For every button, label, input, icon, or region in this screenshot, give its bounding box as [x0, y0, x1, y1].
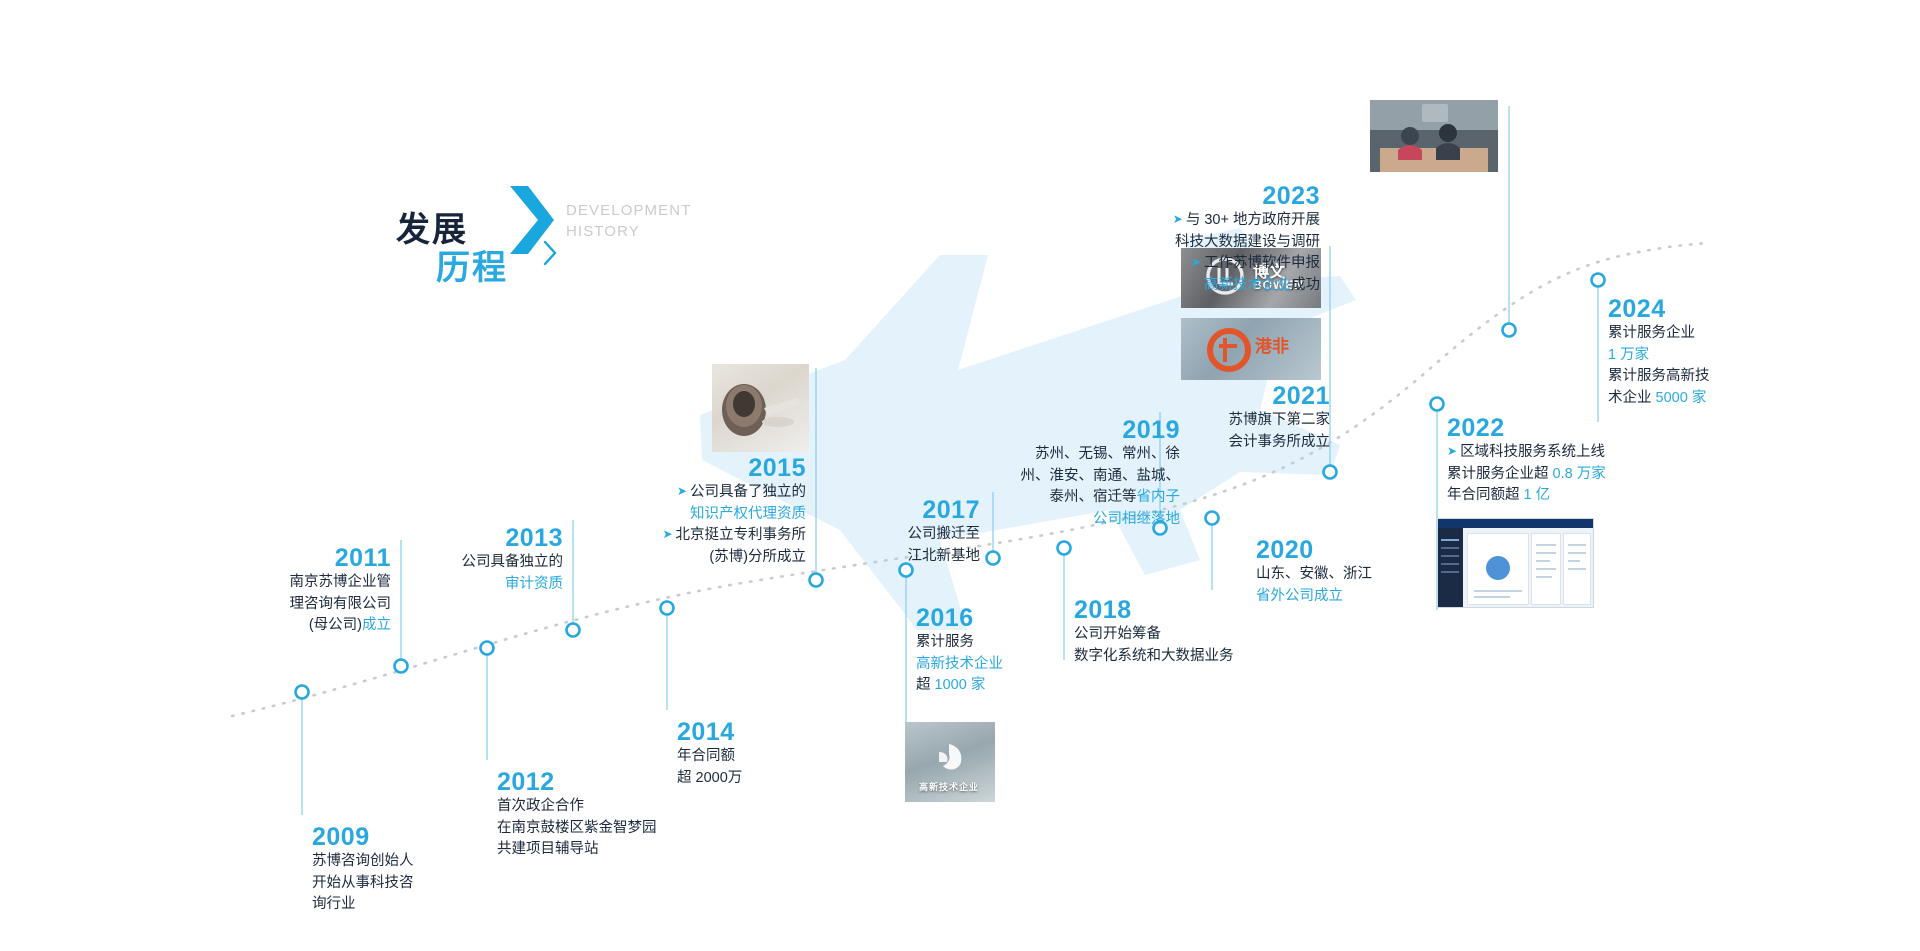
desc-line: 科技大数据建设与调研 [1090, 232, 1320, 254]
desc-text: 泰州、宿迁等 [1050, 489, 1137, 505]
year-label-2016: 2016 [916, 605, 1003, 632]
desc-line: 公司开始筹备 [1074, 624, 1234, 646]
desc-line: 苏州、无锡、常州、徐 [1000, 444, 1180, 466]
year-label-2012: 2012 [497, 769, 657, 796]
desc-text: 累计服务企业 [1608, 325, 1695, 341]
photo-2023-government-meeting [1370, 100, 1498, 172]
desc-text: 开始从事科技咨 [312, 875, 414, 891]
dashboard-card [1563, 533, 1591, 605]
desc-line: 首次政企合作 [497, 796, 657, 818]
photo-2016-caption: 高新技术企业 [919, 780, 979, 793]
timeline-entry-2024: 2024 累计服务企业1 万家累计服务高新技术企业 5000 家 [1608, 296, 1710, 409]
dashboard-sidebar-item [1441, 539, 1459, 541]
desc-highlight: 审计资质 [505, 576, 563, 592]
desc-line: 询行业 [312, 894, 414, 916]
desc-line: 超 2000万 [677, 768, 742, 790]
dashboard-line [1568, 552, 1586, 554]
desc-2013: 公司具备独立的审计资质 [343, 552, 563, 595]
desc-line: 累计服务 [916, 632, 1003, 654]
desc-line: 累计服务企业 [1608, 323, 1710, 345]
desc-text: 年合同额 [677, 748, 735, 764]
desc-2020: 山东、安徽、浙江省外公司成立 [1256, 564, 1372, 607]
desc-text: 年合同额超 [1447, 487, 1524, 503]
dashboard-sidebar-item [1441, 547, 1459, 549]
year-label-2019: 2019 [1000, 417, 1180, 444]
desc-highlight: 高新技术企业 [916, 656, 1003, 672]
desc-line: 苏博旗下第二家 [1155, 410, 1330, 432]
desc-text: 山东、安徽、浙江 [1256, 566, 1372, 582]
desc-line: ➤北京挺立专利事务所 [556, 525, 806, 547]
year-label-2018: 2018 [1074, 597, 1234, 624]
desc-line: 州、淮安、南通、盐城、 [1000, 466, 1180, 488]
desc-text: 公司开始筹备 [1074, 626, 1161, 642]
desc-text: (母公司) [309, 617, 362, 633]
timeline-nodes [0, 0, 1920, 951]
desc-highlight: 1000 家 [935, 677, 986, 693]
desc-line: ➤公司具备了独立的 [556, 482, 806, 504]
timeline-entry-2014: 2014 年合同额超 2000万 [677, 719, 742, 789]
desc-2023: ➤与 30+ 地方政府开展科技大数据建设与调研➤工作苏博软件申报高新技术企业成功 [1090, 210, 1320, 296]
desc-line: ➤工作苏博软件申报 [1090, 253, 1320, 275]
desc-line: 知识产权代理资质 [556, 504, 806, 526]
desc-text: 区域科技服务系统上线 [1460, 444, 1605, 460]
bullet-arrow-icon: ➤ [1173, 209, 1183, 231]
year-label-2009: 2009 [312, 824, 414, 851]
desc-line: 年合同额 [677, 746, 742, 768]
dashboard-line [1568, 544, 1586, 546]
dashboard-line [1536, 544, 1556, 546]
photo-2015-patent-seal [712, 364, 809, 452]
desc-text: 累计服务高新技 [1608, 368, 1710, 384]
desc-highlight: 1 万家 [1608, 347, 1649, 363]
desc-highlight: 0.8 万家 [1553, 466, 1606, 482]
desc-text: 数字化系统和大数据业务 [1074, 648, 1234, 664]
desc-2017: 公司搬迁至江北新基地 [783, 524, 980, 567]
desc-highlight: 1 亿 [1524, 487, 1551, 503]
desc-line: 苏博咨询创始人 [312, 851, 414, 873]
desc-text: 苏博旗下第二家 [1229, 412, 1331, 428]
timeline-entry-2012: 2012 首次政企合作在南京鼓楼区紫金智梦园共建项目辅导站 [497, 769, 657, 861]
dashboard-line [1536, 576, 1552, 578]
desc-2021: 苏博旗下第二家会计事务所成立 [1155, 410, 1330, 453]
desc-text: 江北新基地 [908, 548, 981, 564]
dashboard-line [1536, 552, 1556, 554]
desc-line: 理咨询有限公司 [171, 594, 391, 616]
desc-line: 累计服务高新技 [1608, 366, 1710, 388]
timeline-entry-2009: 2009 苏博咨询创始人开始从事科技咨询行业 [312, 824, 414, 916]
photo-2021-second-firm-logo: 港非 [1181, 318, 1321, 380]
desc-text: 州、淮安、南通、盐城、 [1021, 468, 1181, 484]
timeline-entry-2022: 2022 ➤区域科技服务系统上线累计服务企业超 0.8 万家年合同额超 1 亿 [1447, 415, 1606, 507]
desc-highlight: 公司相继落地 [1093, 511, 1180, 527]
desc-text: 成功 [1291, 277, 1320, 293]
desc-line: 公司搬迁至 [783, 524, 980, 546]
desc-text: 累计服务 [916, 634, 974, 650]
desc-line: 公司相继落地 [1000, 509, 1180, 531]
year-label-2015: 2015 [556, 455, 806, 482]
desc-text: 询行业 [312, 896, 356, 912]
year-label-2017: 2017 [783, 497, 980, 524]
desc-2018: 公司开始筹备数字化系统和大数据业务 [1074, 624, 1234, 667]
dashboard-line [1568, 560, 1580, 562]
desc-line: 公司具备独立的 [343, 552, 563, 574]
desc-2009: 苏博咨询创始人开始从事科技咨询行业 [312, 851, 414, 916]
desc-line: 高新技术企业成功 [1090, 275, 1320, 297]
timeline-entry-2017: 2017 公司搬迁至江北新基地 [783, 497, 980, 567]
infographic-canvas: 发展 历程 DEVELOPMENT HISTORY [0, 0, 1920, 951]
desc-line: 山东、安徽、浙江 [1256, 564, 1372, 586]
desc-line: 泰州、宿迁等省内子 [1000, 487, 1180, 509]
dashboard-card [1467, 533, 1529, 605]
desc-2019: 苏州、无锡、常州、徐州、淮安、南通、盐城、泰州、宿迁等省内子公司相继落地 [1000, 444, 1180, 530]
timeline-entry-2013: 2013 公司具备独立的审计资质 [343, 525, 563, 595]
desc-2015: ➤公司具备了独立的知识产权代理资质➤北京挺立专利事务所(苏博)分所成立 [556, 482, 806, 568]
desc-line: (苏博)分所成立 [556, 547, 806, 569]
dashboard-line [1568, 568, 1586, 570]
desc-line: 会计事务所成立 [1155, 432, 1330, 454]
desc-highlight: 成立 [362, 617, 391, 633]
desc-2012: 首次政企合作在南京鼓楼区紫金智梦园共建项目辅导站 [497, 796, 657, 861]
desc-highlight: 5000 家 [1656, 390, 1707, 406]
dashboard-card [1531, 533, 1561, 605]
dashboard-line [1536, 560, 1550, 562]
year-label-2020: 2020 [1256, 537, 1372, 564]
dashboard-chart [1486, 556, 1510, 580]
photo-2021-second-firm-caption: 港非 [1255, 332, 1289, 357]
desc-2016: 累计服务高新技术企业超 1000 家 [916, 632, 1003, 697]
timeline-entry-2018: 2018 公司开始筹备数字化系统和大数据业务 [1074, 597, 1234, 667]
desc-2024: 累计服务企业1 万家累计服务高新技术企业 5000 家 [1608, 323, 1710, 409]
bullet-arrow-icon: ➤ [677, 481, 687, 503]
year-label-2013: 2013 [343, 525, 563, 552]
desc-line: 江北新基地 [783, 546, 980, 568]
desc-line: 1 万家 [1608, 345, 1710, 367]
desc-line: 数字化系统和大数据业务 [1074, 646, 1234, 668]
desc-line: 术企业 5000 家 [1608, 388, 1710, 410]
desc-text: 术企业 [1608, 390, 1656, 406]
dashboard-sidebar-item [1441, 563, 1459, 565]
desc-text: 公司具备独立的 [462, 554, 564, 570]
year-label-2014: 2014 [677, 719, 742, 746]
year-label-2022: 2022 [1447, 415, 1606, 442]
bullet-arrow-icon: ➤ [662, 524, 672, 546]
desc-text: 苏博咨询创始人 [312, 853, 414, 869]
desc-line: 年合同额超 1 亿 [1447, 485, 1606, 507]
desc-line: ➤区域科技服务系统上线 [1447, 442, 1606, 464]
desc-text: 累计服务企业超 [1447, 466, 1553, 482]
desc-line: 累计服务企业超 0.8 万家 [1447, 464, 1606, 486]
desc-highlight: 高新技术企业 [1204, 277, 1291, 293]
dashboard-sidebar-item [1441, 571, 1459, 573]
desc-line: 共建项目辅导站 [497, 839, 657, 861]
year-label-2023: 2023 [1090, 183, 1320, 210]
timeline-entry-2019: 2019 苏州、无锡、常州、徐州、淮安、南通、盐城、泰州、宿迁等省内子公司相继落… [1000, 417, 1180, 530]
desc-2014: 年合同额超 2000万 [677, 746, 742, 789]
bullet-arrow-icon: ➤ [1447, 441, 1457, 463]
desc-text: 在南京鼓楼区紫金智梦园 [497, 820, 657, 836]
desc-text: 理咨询有限公司 [290, 596, 392, 612]
desc-text: 超 [916, 677, 935, 693]
timeline-entry-2023: 2023 ➤与 30+ 地方政府开展科技大数据建设与调研➤工作苏博软件申报高新技… [1090, 183, 1320, 296]
bullet-arrow-icon: ➤ [1191, 252, 1201, 274]
desc-text: 会计事务所成立 [1229, 434, 1331, 450]
desc-line: ➤与 30+ 地方政府开展 [1090, 210, 1320, 232]
desc-line: 超 1000 家 [916, 675, 1003, 697]
desc-text: 共建项目辅导站 [497, 841, 599, 857]
desc-text: 科技大数据建设与调研 [1175, 234, 1320, 250]
year-label-2021: 2021 [1155, 383, 1330, 410]
desc-line: 开始从事科技咨 [312, 873, 414, 895]
timeline-entry-2016: 2016 累计服务高新技术企业超 1000 家 [916, 605, 1003, 697]
photo-2022-service-dashboard [1437, 518, 1594, 608]
desc-text: 首次政企合作 [497, 798, 584, 814]
desc-line: (母公司)成立 [171, 615, 391, 637]
dashboard-line [1474, 596, 1510, 598]
desc-2022: ➤区域科技服务系统上线累计服务企业超 0.8 万家年合同额超 1 亿 [1447, 442, 1606, 507]
desc-line: 高新技术企业 [916, 654, 1003, 676]
desc-text: 公司搬迁至 [908, 526, 981, 542]
desc-text: 超 2000万 [677, 770, 742, 786]
dashboard-titlebar [1438, 519, 1593, 528]
desc-text: 工作苏博软件申报 [1204, 255, 1320, 271]
timeline-entry-2020: 2020 山东、安徽、浙江省外公司成立 [1256, 537, 1372, 607]
desc-line: 审计资质 [343, 574, 563, 596]
dashboard-sidebar-item [1441, 555, 1459, 557]
desc-line: 在南京鼓楼区紫金智梦园 [497, 818, 657, 840]
timeline-entry-2021: 2021 苏博旗下第二家会计事务所成立 [1155, 383, 1330, 453]
dashboard-line [1536, 568, 1556, 570]
desc-text: 与 30+ 地方政府开展 [1186, 212, 1320, 228]
desc-highlight: 省外公司成立 [1256, 588, 1343, 604]
dashboard-line [1474, 590, 1522, 592]
timeline-entry-2015: 2015 ➤公司具备了独立的知识产权代理资质➤北京挺立专利事务所(苏博)分所成立 [556, 455, 806, 568]
desc-highlight: 省内子 [1137, 489, 1181, 505]
desc-line: 省外公司成立 [1256, 586, 1372, 608]
photo-2016-hightech-plaque: 高新技术企业 [905, 722, 995, 802]
year-label-2024: 2024 [1608, 296, 1710, 323]
